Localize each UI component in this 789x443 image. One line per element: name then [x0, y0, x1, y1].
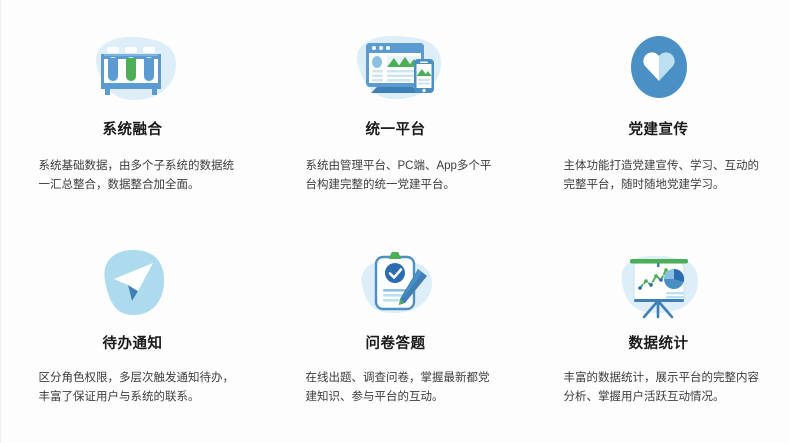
feature-grid: 系统融合 系统基础数据，由多个子系统的数据统一汇总整合，数据整合加全面。 [1, 0, 789, 443]
feature-section: 系统融合 系统基础数据，由多个子系统的数据统一汇总整合，数据整合加全面。 [0, 0, 789, 443]
feature-description: 系统基础数据，由多个子系统的数据统一汇总整合，数据整合加全面。 [39, 157, 237, 194]
feature-card-system-integration[interactable]: 系统融合 系统基础数据，由多个子系统的数据统一汇总整合，数据整合加全面。 [1, 0, 264, 222]
browser-and-phone-icon [341, 30, 451, 108]
chart-easel-icon [604, 244, 714, 322]
feature-title: 党建宣传 [629, 118, 689, 139]
feature-description: 在线出题、调查问卷，掌握最新都党建知识、参与平台的互动。 [306, 369, 492, 406]
feature-card-unified-platform[interactable]: 统一平台 系统由管理平台、PC端、App多个平台构建完整的统一党建平台。 [264, 0, 527, 222]
feature-description: 主体功能打造党建宣传、学习、互动的完整平台，随时随地党建学习。 [564, 157, 760, 194]
test-tube-rack-icon [78, 30, 188, 108]
feature-description: 丰富的数据统计，展示平台的完整内容分析、掌握用户活跃互动情况。 [564, 369, 760, 406]
feature-card-todo-notification[interactable]: 待办通知 区分角色权限，多层次触发通知待办，丰富了保证用户与系统的联系。 [1, 222, 264, 443]
feature-title: 数据统计 [629, 332, 689, 353]
feature-description: 系统由管理平台、PC端、App多个平台构建完整的统一党建平台。 [306, 157, 492, 194]
feature-title: 系统融合 [103, 118, 163, 139]
feature-card-questionnaire[interactable]: 问卷答题 在线出题、调查问卷，掌握最新都党建知识、参与平台的互动。 [264, 222, 527, 443]
feature-title: 问卷答题 [366, 332, 426, 353]
heart-circle-icon [604, 30, 714, 108]
feature-title: 待办通知 [103, 332, 163, 353]
clipboard-check-pen-icon [341, 244, 451, 322]
feature-description: 区分角色权限，多层次触发通知待办，丰富了保证用户与系统的联系。 [39, 369, 237, 406]
feature-card-party-promotion[interactable]: 党建宣传 主体功能打造党建宣传、学习、互动的完整平台，随时随地党建学习。 [527, 0, 789, 222]
paper-plane-icon [78, 244, 188, 322]
feature-card-data-statistics[interactable]: 数据统计 丰富的数据统计，展示平台的完整内容分析、掌握用户活跃互动情况。 [527, 222, 789, 443]
feature-title: 统一平台 [366, 118, 426, 139]
